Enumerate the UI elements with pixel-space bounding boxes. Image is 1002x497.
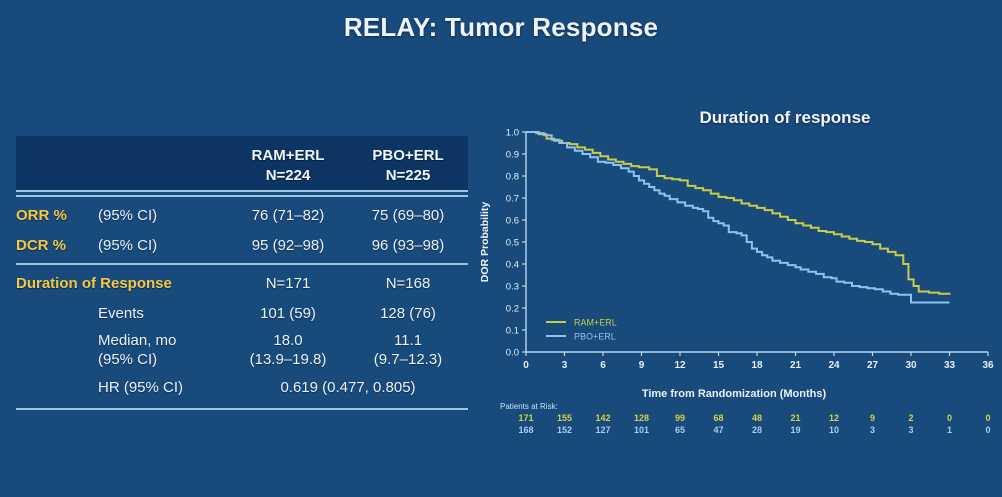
row-median-ram-ci: (13.9–19.8) [228, 350, 348, 369]
svg-text:0.9: 0.9 [506, 150, 519, 161]
table-row: Median, mo (95% CI) 18.0 (13.9–19.8) 11.… [16, 328, 468, 372]
svg-text:6: 6 [600, 360, 606, 371]
dor-km-chart: 0.00.10.20.30.40.50.60.70.80.91.0DOR Pro… [474, 126, 994, 386]
row-median-pbo-ci: (9.7–12.3) [348, 350, 468, 369]
svg-text:0.1: 0.1 [506, 326, 519, 337]
patients-at-risk-cell: 152 [557, 425, 572, 435]
patients-at-risk-cell: 101 [634, 425, 649, 435]
patients-at-risk-cell: 1 [947, 425, 952, 435]
patients-at-risk-cell: 3 [870, 425, 875, 435]
chart-title: Duration of response [620, 108, 950, 128]
patients-at-risk-cell: 142 [595, 413, 610, 423]
table-row: Duration of Response N=171 N=168 [16, 268, 468, 298]
row-hr-value: 0.619 (0.477, 0.805) [228, 379, 468, 396]
row-median-ram-value: 18.0 [228, 331, 348, 350]
table-header-row: RAM+ERL N=224 PBO+ERL N=225 [16, 136, 468, 192]
table-rule-mid [16, 263, 468, 265]
row-sub-median: Median, mo [98, 331, 176, 350]
patients-at-risk-cell: 128 [634, 413, 649, 423]
svg-text:18: 18 [751, 360, 763, 371]
svg-text:12: 12 [674, 360, 686, 371]
row-dor-pbo: N=168 [348, 275, 468, 292]
svg-text:0.0: 0.0 [506, 348, 519, 359]
patients-at-risk-cell: 0 [947, 413, 952, 423]
patients-at-risk-cell: 155 [557, 413, 572, 423]
svg-text:30: 30 [905, 360, 917, 371]
patients-at-risk-table: Patients at Risk: 1711551421289968482112… [500, 402, 998, 437]
chart-xlabel: Time from Randomization (Months) [474, 388, 994, 400]
patients-at-risk-cell: 0 [985, 413, 990, 423]
row-sub-median-ci: (95% CI) [98, 350, 176, 369]
patients-at-risk-cell: 0 [985, 425, 990, 435]
row-dor-ram: N=171 [228, 275, 348, 292]
svg-text:0.3: 0.3 [506, 282, 519, 293]
patients-at-risk-cell: 21 [790, 413, 800, 423]
svg-text:9: 9 [639, 360, 645, 371]
svg-text:0: 0 [523, 360, 529, 371]
svg-text:DOR Probability: DOR Probability [479, 202, 491, 283]
row-sub-events: Events [98, 305, 144, 322]
svg-text:RAM+ERL: RAM+ERL [574, 318, 617, 328]
patients-at-risk-cell: 65 [675, 425, 685, 435]
svg-text:33: 33 [944, 360, 956, 371]
patients-at-risk-cell: 47 [713, 425, 723, 435]
table-header-pbo: PBO+ERL N=225 [348, 146, 468, 186]
row-sub-hr: HR (95% CI) [98, 379, 183, 396]
row-dcr-ram: 95 (92–98) [228, 237, 348, 254]
patients-at-risk-label: Patients at Risk: [500, 402, 998, 411]
row-orr-pbo: 75 (69–80) [348, 207, 468, 224]
row-median-pbo: 11.1 (9.7–12.3) [348, 331, 468, 369]
table-header-pbo-label: PBO+ERL [348, 146, 468, 166]
table-row: HR (95% CI) 0.619 (0.477, 0.805) [16, 372, 468, 402]
patients-at-risk-cell: 28 [752, 425, 762, 435]
row-events-pbo: 128 (76) [348, 305, 468, 322]
svg-text:0.8: 0.8 [506, 172, 519, 183]
patients-at-risk-cell: 9 [870, 413, 875, 423]
table-row: Events 101 (59) 128 (76) [16, 298, 468, 328]
patients-at-risk-cell: 19 [790, 425, 800, 435]
patients-at-risk-cell: 68 [713, 413, 723, 423]
row-key-dor: Duration of Response [16, 275, 172, 292]
row-median-pbo-value: 11.1 [348, 331, 468, 350]
patients-at-risk-cell: 171 [518, 413, 533, 423]
table-header-ram: RAM+ERL N=224 [228, 146, 348, 186]
svg-text:1.0: 1.0 [506, 128, 519, 139]
row-key-orr: ORR % [16, 207, 88, 224]
table-header-ram-label: RAM+ERL [228, 146, 348, 166]
row-sub-dcr: (95% CI) [98, 237, 157, 254]
slide-root: RELAY: Tumor Response RAM+ERL N=224 PBO+… [0, 0, 1002, 497]
patients-at-risk-cell: 99 [675, 413, 685, 423]
svg-text:27: 27 [867, 360, 879, 371]
svg-text:15: 15 [713, 360, 725, 371]
svg-text:36: 36 [982, 360, 994, 371]
row-orr-ram: 76 (71–82) [228, 207, 348, 224]
patients-at-risk-cell: 2 [908, 413, 913, 423]
patients-at-risk-cell: 127 [595, 425, 610, 435]
patients-at-risk-row-pbo: 16815212710165472819103310 [500, 425, 998, 437]
patients-at-risk-cell: 3 [908, 425, 913, 435]
patients-at-risk-row-ram: 17115514212899684821129200 [500, 413, 998, 425]
patients-at-risk-cell: 168 [518, 425, 533, 435]
patients-at-risk-cell: 10 [829, 425, 839, 435]
tumor-response-table: RAM+ERL N=224 PBO+ERL N=225 ORR % (95% C… [16, 136, 468, 413]
patients-at-risk-cell: 48 [752, 413, 762, 423]
row-key-dcr: DCR % [16, 237, 88, 254]
svg-text:PBO+ERL: PBO+ERL [574, 332, 616, 342]
svg-text:0.7: 0.7 [506, 194, 519, 205]
svg-text:3: 3 [562, 360, 568, 371]
table-rule-top [16, 195, 468, 197]
row-dcr-pbo: 96 (93–98) [348, 237, 468, 254]
table-row: ORR % (95% CI) 76 (71–82) 75 (69–80) [16, 200, 468, 230]
row-events-ram: 101 (59) [228, 305, 348, 322]
svg-text:0.2: 0.2 [506, 304, 519, 315]
table-row: DCR % (95% CI) 95 (92–98) 96 (93–98) [16, 230, 468, 260]
table-header-ram-n: N=224 [228, 166, 348, 186]
table-rule-bottom [16, 408, 468, 410]
svg-text:21: 21 [790, 360, 802, 371]
svg-text:0.5: 0.5 [506, 238, 519, 249]
table-header-pbo-n: N=225 [348, 166, 468, 186]
svg-text:0.4: 0.4 [506, 260, 519, 271]
row-median-ram: 18.0 (13.9–19.8) [228, 331, 348, 369]
patients-at-risk-cell: 12 [829, 413, 839, 423]
svg-text:24: 24 [828, 360, 840, 371]
svg-text:0.6: 0.6 [506, 216, 519, 227]
page-title: RELAY: Tumor Response [0, 12, 1002, 43]
row-sub-orr: (95% CI) [98, 207, 157, 224]
